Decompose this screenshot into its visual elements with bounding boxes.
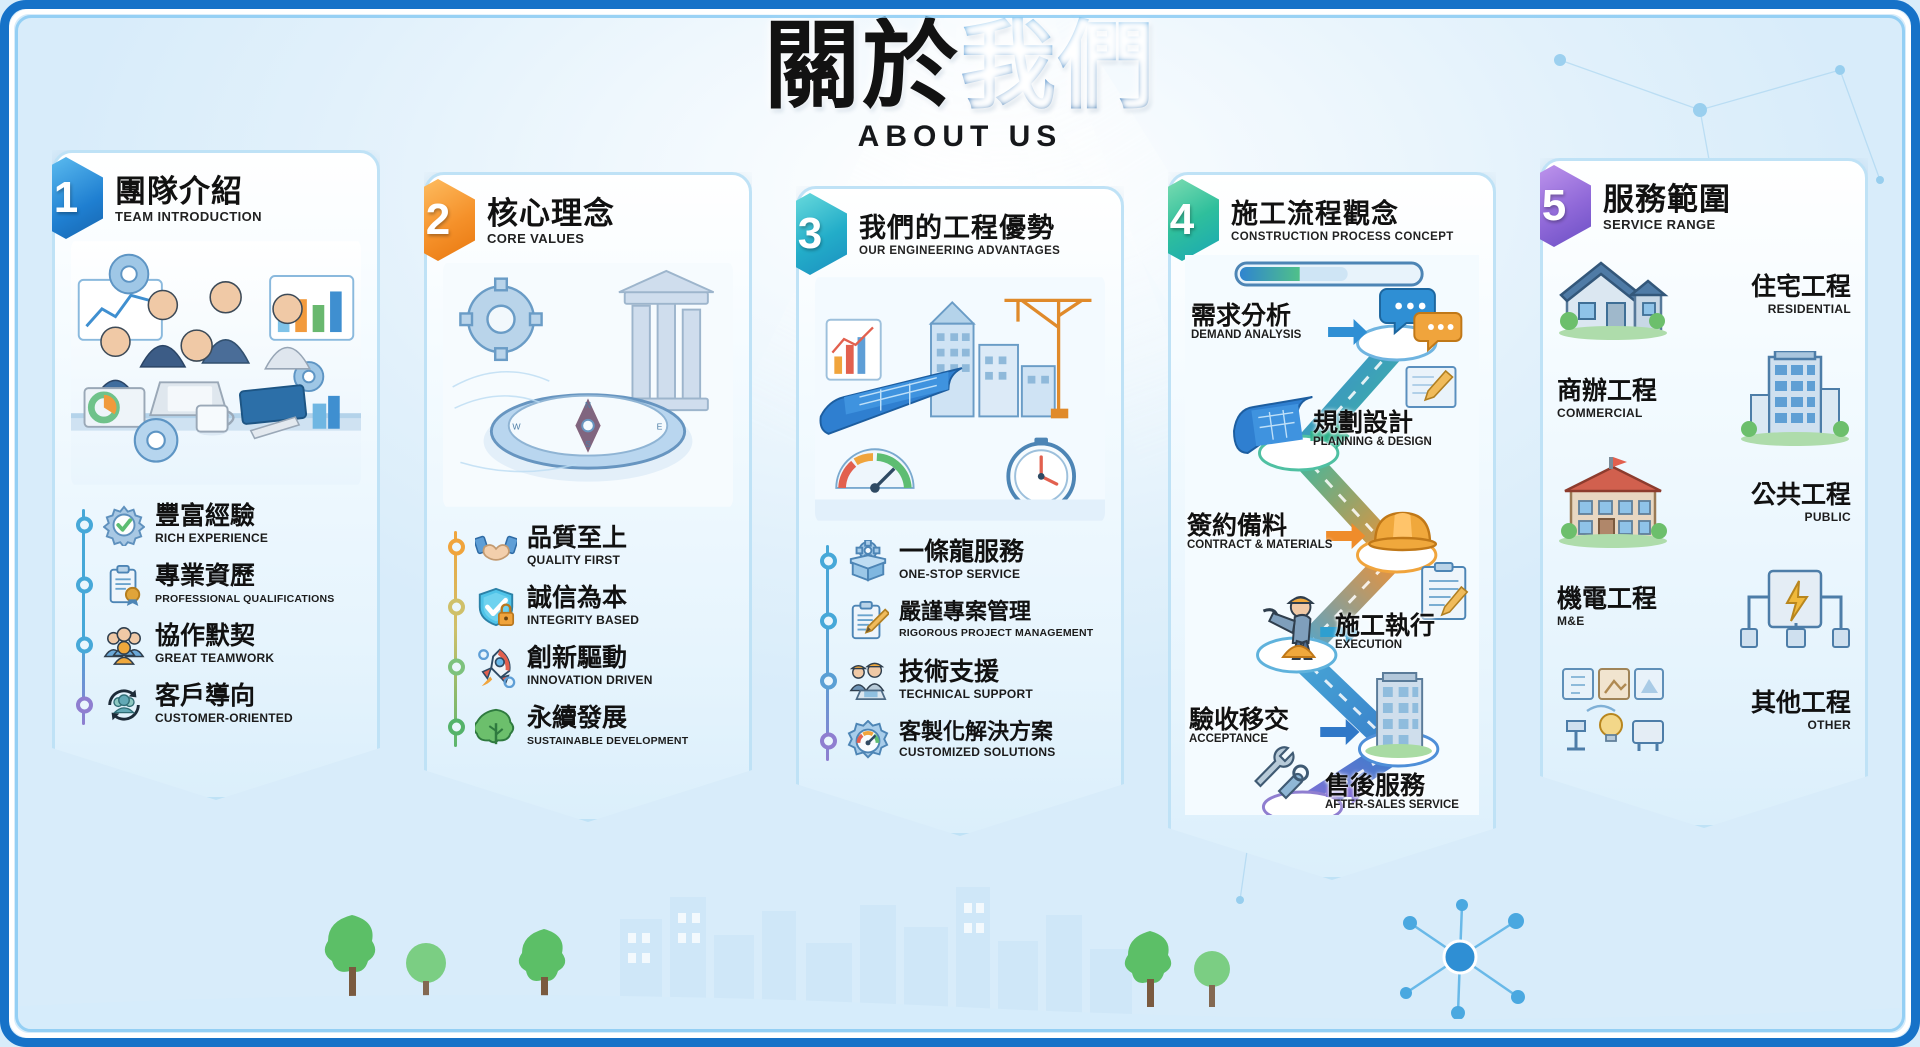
flow-step-en: DEMAND ANALYSIS xyxy=(1191,329,1301,341)
people-group-icon xyxy=(103,624,145,666)
card-service-range[interactable]: 5 服務範圍 SERVICE RANGE xyxy=(1540,158,1868,828)
list-item[interactable]: 客戶導向 CUSTOMER-ORIENTED xyxy=(103,675,363,735)
shield-lock-icon xyxy=(475,586,517,628)
card-3-bullets: 一條龍服務 ONE-STOP SERVICE xyxy=(813,531,1107,771)
gear-gauge-icon xyxy=(847,720,889,762)
service-title-en: COMMERCIAL xyxy=(1557,406,1643,420)
card-core-values[interactable]: 2 核心理念 CORE VALUES xyxy=(424,172,752,822)
timeline-dot xyxy=(448,599,465,616)
list-item[interactable]: 一條龍服務 ONE-STOP SERVICE xyxy=(847,531,1107,591)
card-header-5: 服務範圍 SERVICE RANGE xyxy=(1557,177,1851,239)
compass-pillars-illustration: N S W E xyxy=(443,259,733,511)
list-item-title-en: SUSTAINABLE DEVELOPMENT xyxy=(527,735,688,747)
process-flow-illustration: 需求分析 DEMAND ANALYSIS 規劃設計 PLANNING & DES… xyxy=(1185,255,1479,815)
rocket-gear-icon xyxy=(475,646,517,688)
card-2-bullets: 品質至上 QUALITY FIRST xyxy=(441,517,735,757)
office-tower-icon xyxy=(1739,351,1851,447)
svg-text:S: S xyxy=(585,439,591,449)
timeline-dot xyxy=(820,613,837,630)
list-item-title-zh: 品質至上 xyxy=(527,523,627,552)
flow-step-zh: 簽約備料 xyxy=(1187,513,1332,539)
flow-step-2[interactable]: 規劃設計 PLANNING & DESIGN xyxy=(1313,410,1432,448)
list-item-title-zh: 豐富經驗 xyxy=(155,501,255,530)
electrical-panel-icon xyxy=(1739,559,1851,655)
card-title-en-2: CORE VALUES xyxy=(487,232,615,246)
flow-step-1[interactable]: 需求分析 DEMAND ANALYSIS xyxy=(1191,303,1301,341)
list-item[interactable]: 技術支援 TECHNICAL SUPPORT xyxy=(847,651,1107,711)
list-item-title-zh: 嚴謹專案管理 xyxy=(899,600,1031,625)
cards-row: 1 團隊介紹 TEAM INTRODUCTION xyxy=(52,150,1868,880)
engineers-laptop-icon xyxy=(847,660,889,702)
timeline-dot xyxy=(76,517,93,534)
list-item-title-en: RICH EXPERIENCE xyxy=(155,531,268,545)
service-title-zh: 商辦工程 xyxy=(1557,376,1657,405)
service-row-residential[interactable]: 住宅工程 RESIDENTIAL xyxy=(1557,243,1851,347)
service-title-zh: 其他工程 xyxy=(1751,688,1851,717)
list-item-title-zh: 誠信為本 xyxy=(527,583,627,612)
page-title: 關於我們 xyxy=(0,16,1920,118)
list-item-title-en: RIGOROUS PROJECT MANAGEMENT xyxy=(899,627,1093,639)
timeline-dot xyxy=(448,539,465,556)
list-item[interactable]: 嚴謹專案管理 RIGOROUS PROJECT MANAGEMENT xyxy=(847,591,1107,651)
flow-step-zh: 需求分析 xyxy=(1191,303,1301,329)
service-row-commercial[interactable]: 商辦工程 COMMERCIAL xyxy=(1557,347,1851,451)
flow-step-6[interactable]: 售後服務 AFTER-SALES SERVICE xyxy=(1325,773,1459,811)
list-item[interactable]: 豐富經驗 RICH EXPERIENCE xyxy=(103,495,363,555)
timeline-dot xyxy=(76,697,93,714)
list-item-title-en: GREAT TEAMWORK xyxy=(155,651,274,665)
card-title-zh-4: 施工流程觀念 xyxy=(1231,201,1454,229)
handshake-icon xyxy=(475,526,517,568)
card-engineering-advantages[interactable]: 3 我們的工程優勢 OUR ENGINEERING ADVANTAGES xyxy=(796,186,1124,836)
list-item-title-en: TECHNICAL SUPPORT xyxy=(899,687,1033,701)
list-item-title-en: ONE-STOP SERVICE xyxy=(899,567,1020,581)
flow-step-zh: 驗收移交 xyxy=(1189,707,1289,733)
card-construction-process[interactable]: 4 施工流程觀念 CONSTRUCTION PROCESS CONCEPT xyxy=(1168,172,1496,880)
flow-step-zh: 施工執行 xyxy=(1335,613,1435,639)
list-item[interactable]: 客製化解決方案 CUSTOMIZED SOLUTIONS xyxy=(847,711,1107,771)
list-item-title-zh: 創新驅動 xyxy=(527,643,627,672)
service-list: 住宅工程 RESIDENTIAL xyxy=(1557,243,1851,763)
list-item[interactable]: 協作默契 GREAT TEAMWORK xyxy=(103,615,363,675)
timeline-dot xyxy=(820,673,837,690)
card-title-en-1: TEAM INTRODUCTION xyxy=(115,210,262,224)
house-icon xyxy=(1557,247,1669,343)
timeline-dot xyxy=(820,553,837,570)
card-title-en-3: OUR ENGINEERING ADVANTAGES xyxy=(859,245,1060,257)
gear-check-icon xyxy=(103,504,145,546)
corner-swoosh-bottom-right xyxy=(1614,927,1920,1047)
flow-step-en: AFTER-SALES SERVICE xyxy=(1325,799,1459,811)
service-title-en: PUBLIC xyxy=(1805,510,1851,524)
list-item[interactable]: 創新驅動 INNOVATION DRIVEN xyxy=(475,637,735,697)
card-title-en-4: CONSTRUCTION PROCESS CONCEPT xyxy=(1231,231,1454,243)
service-row-me[interactable]: 機電工程 M&E xyxy=(1557,555,1851,659)
list-item-title-zh: 技術支援 xyxy=(899,657,999,686)
timeline-dot xyxy=(76,577,93,594)
flow-step-en: EXECUTION xyxy=(1335,639,1435,651)
list-item-title-en: CUSTOMER-ORIENTED xyxy=(155,711,293,725)
card-title-zh-1: 團隊介紹 xyxy=(115,176,262,209)
page-subtitle: ABOUT US xyxy=(0,120,1920,154)
flow-step-5[interactable]: 驗收移交 ACCEPTANCE xyxy=(1189,707,1289,745)
card-1-bullets: 豐富經驗 RICH EXPERIENCE xyxy=(69,495,363,735)
list-item-title-zh: 專業資歷 xyxy=(155,561,255,590)
list-item-title-en: INTEGRITY BASED xyxy=(527,613,639,627)
list-item[interactable]: 品質至上 QUALITY FIRST xyxy=(475,517,735,577)
card-team-introduction[interactable]: 1 團隊介紹 TEAM INTRODUCTION xyxy=(52,150,380,800)
timeline-dot xyxy=(820,733,837,750)
service-title-zh: 住宅工程 xyxy=(1751,272,1851,301)
flow-step-zh: 售後服務 xyxy=(1325,773,1459,799)
card-title-en-5: SERVICE RANGE xyxy=(1603,218,1731,232)
flow-step-en: PLANNING & DESIGN xyxy=(1313,436,1432,448)
card-header-3: 我們的工程優勢 OUR ENGINEERING ADVANTAGES xyxy=(813,205,1107,267)
misc-tools-icon xyxy=(1557,663,1669,759)
list-item-title-zh: 一條龍服務 xyxy=(899,537,1024,566)
title-dark-part: 關於 xyxy=(764,10,960,122)
list-item-title-zh: 協作默契 xyxy=(155,621,255,650)
open-box-gear-icon xyxy=(847,540,889,582)
list-item-title-en: CUSTOMIZED SOLUTIONS xyxy=(899,745,1055,759)
svg-text:N: N xyxy=(585,400,591,410)
tree-growth-icon xyxy=(475,706,517,748)
civic-building-icon xyxy=(1557,455,1669,551)
card-title-zh-3: 我們的工程優勢 xyxy=(859,215,1060,243)
about-us-poster: 關於我們 ABOUT US 1 團隊介紹 TEAM INTRODUCTION xyxy=(0,0,1920,1047)
flow-step-en: CONTRACT & MATERIALS xyxy=(1187,539,1332,551)
flow-step-zh: 規劃設計 xyxy=(1313,410,1432,436)
list-item[interactable]: 誠信為本 INTEGRITY BASED xyxy=(475,577,735,637)
timeline-dot xyxy=(448,659,465,676)
timeline-dot xyxy=(448,719,465,736)
service-title-zh: 公共工程 xyxy=(1751,480,1851,509)
list-item-title-zh: 永續發展 xyxy=(527,703,627,732)
card-title-zh-5: 服務範圍 xyxy=(1603,184,1731,217)
card-header-2: 核心理念 CORE VALUES xyxy=(441,191,735,253)
service-title-zh: 機電工程 xyxy=(1557,584,1657,613)
flow-step-3[interactable]: 簽約備料 CONTRACT & MATERIALS xyxy=(1187,513,1332,551)
title-blue-part: 我們 xyxy=(960,10,1156,122)
city-skyline-decoration xyxy=(0,857,1920,1037)
list-item-title-en: PROFESSIONAL QUALIFICATIONS xyxy=(155,593,334,605)
list-item[interactable]: 永續發展 SUSTAINABLE DEVELOPMENT xyxy=(475,697,735,757)
service-title-en: RESIDENTIAL xyxy=(1768,302,1851,316)
list-item[interactable]: 專業資歷 PROFESSIONAL QUALIFICATIONS xyxy=(103,555,363,615)
service-title-en: M&E xyxy=(1557,614,1585,628)
service-title-en: OTHER xyxy=(1808,718,1852,732)
service-row-other[interactable]: 其他工程 OTHER xyxy=(1557,659,1851,763)
customer-cycle-icon xyxy=(103,684,145,726)
card-header-4: 施工流程觀念 CONSTRUCTION PROCESS CONCEPT xyxy=(1185,191,1479,253)
card-header-1: 團隊介紹 TEAM INTRODUCTION xyxy=(69,169,363,231)
team-meeting-illustration xyxy=(71,237,361,489)
timeline-dot xyxy=(76,637,93,654)
svg-text:E: E xyxy=(657,421,663,431)
certificate-clipboard-icon xyxy=(103,564,145,606)
blueprint-crane-city-illustration xyxy=(815,273,1105,525)
card-title-zh-2: 核心理念 xyxy=(487,198,615,231)
list-item-title-en: QUALITY FIRST xyxy=(527,553,620,567)
list-item-title-zh: 客製化解決方案 xyxy=(899,720,1053,745)
clipboard-pencil-icon xyxy=(847,600,889,642)
poster-title-block: 關於我們 ABOUT US xyxy=(0,16,1920,154)
flow-step-4[interactable]: 施工執行 EXECUTION xyxy=(1335,613,1435,651)
svg-text:W: W xyxy=(512,421,521,431)
list-item-title-en: INNOVATION DRIVEN xyxy=(527,673,653,687)
flow-step-en: ACCEPTANCE xyxy=(1189,733,1289,745)
list-item-title-zh: 客戶導向 xyxy=(155,681,255,710)
service-row-public[interactable]: 公共工程 PUBLIC xyxy=(1557,451,1851,555)
